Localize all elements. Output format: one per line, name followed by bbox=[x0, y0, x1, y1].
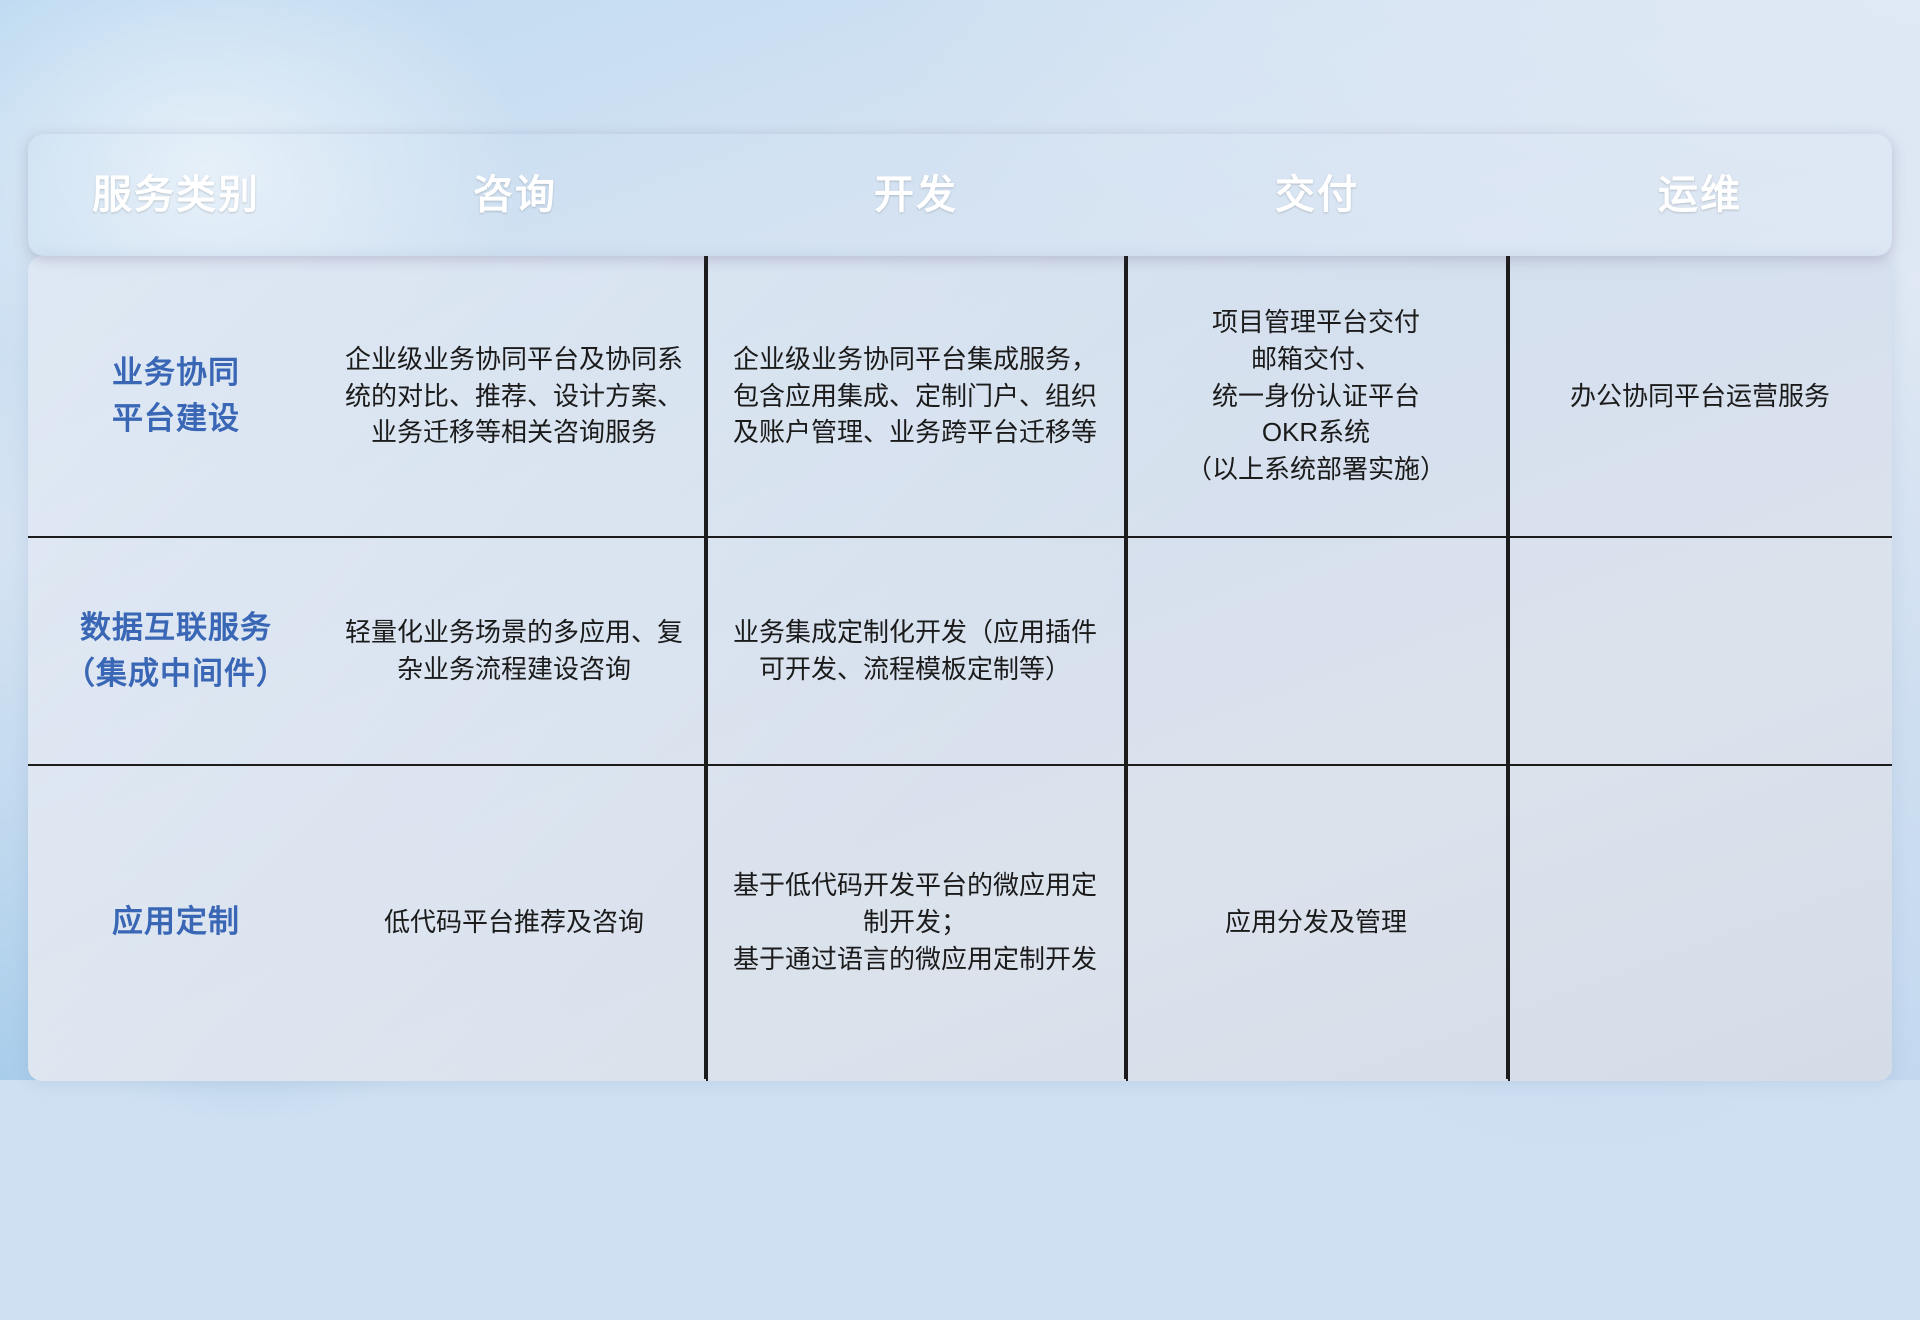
cell-consulting: 企业级业务协同平台及协同系 统的对比、推荐、设计方案、 业务迁移等相关咨询服务 bbox=[324, 256, 706, 536]
column-divider-2 bbox=[1126, 256, 1128, 1081]
cell-development: 业务集成定制化开发（应用插件 可开发、流程模板定制等） bbox=[706, 538, 1126, 764]
column-divider-3 bbox=[1508, 256, 1510, 1081]
cell-category: 数据互联服务 （集成中间件） bbox=[28, 538, 324, 764]
table-header-row: 服务类别 咨询 开发 交付 运维 bbox=[28, 134, 1892, 256]
cell-development: 企业级业务协同平台集成服务， 包含应用集成、定制门户、组织 及账户管理、业务跨平… bbox=[706, 256, 1126, 536]
column-header-consulting: 咨询 bbox=[324, 173, 706, 217]
cell-operations bbox=[1508, 538, 1892, 764]
table-row: 业务协同 平台建设 企业级业务协同平台及协同系 统的对比、推荐、设计方案、 业务… bbox=[28, 256, 1892, 538]
column-header-delivery: 交付 bbox=[1126, 173, 1508, 217]
column-header-operations: 运维 bbox=[1508, 173, 1892, 217]
cell-delivery: 应用分发及管理 bbox=[1126, 766, 1508, 1079]
service-matrix-table: 服务类别 咨询 开发 交付 运维 业务协同 平台建设 企业级业务协同平台及协同系… bbox=[28, 134, 1892, 954]
cell-development: 基于低代码开发平台的微应用定 制开发； 基于通过语言的微应用定制开发 bbox=[706, 766, 1126, 1079]
column-divider-1 bbox=[706, 256, 708, 1081]
table-row: 数据互联服务 （集成中间件） 轻量化业务场景的多应用、复 杂业务流程建设咨询 业… bbox=[28, 538, 1892, 766]
cell-category: 业务协同 平台建设 bbox=[28, 256, 324, 536]
cell-operations: 办公协同平台运营服务 bbox=[1508, 256, 1892, 536]
table-row: 应用定制 低代码平台推荐及咨询 基于低代码开发平台的微应用定 制开发； 基于通过… bbox=[28, 766, 1892, 1079]
column-header-service-category: 服务类别 bbox=[28, 173, 324, 217]
cell-delivery: 项目管理平台交付 邮箱交付、 统一身份认证平台 OKR系统 （以上系统部署实施） bbox=[1126, 256, 1508, 536]
cell-delivery bbox=[1126, 538, 1508, 764]
cell-consulting: 低代码平台推荐及咨询 bbox=[324, 766, 706, 1079]
cell-category: 应用定制 bbox=[28, 766, 324, 1079]
cell-consulting: 轻量化业务场景的多应用、复 杂业务流程建设咨询 bbox=[324, 538, 706, 764]
column-header-development: 开发 bbox=[706, 173, 1126, 217]
cell-operations bbox=[1508, 766, 1892, 1079]
table-grid: 业务协同 平台建设 企业级业务协同平台及协同系 统的对比、推荐、设计方案、 业务… bbox=[28, 256, 1892, 1081]
